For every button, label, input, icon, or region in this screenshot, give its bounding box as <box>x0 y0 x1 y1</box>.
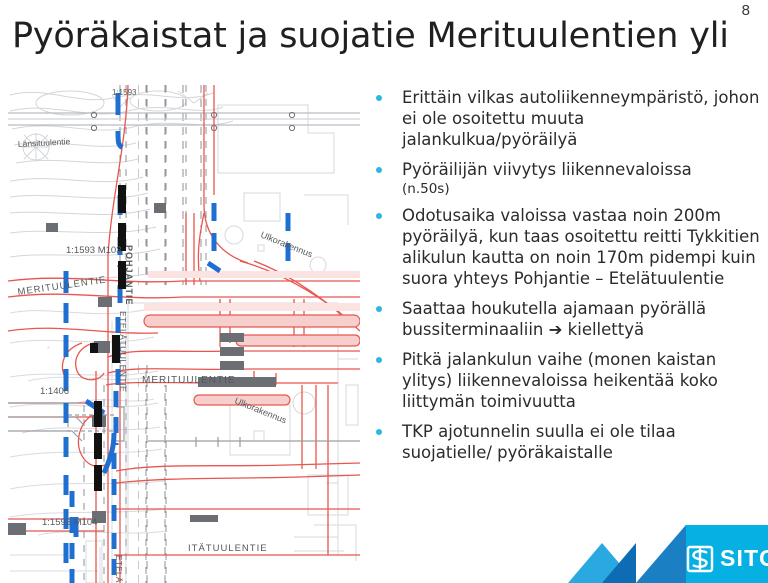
list-item: Odotusaika valoissa vastaa noin 200m pyö… <box>372 206 762 290</box>
bullet-text: Erittäin vilkas autoliikenneympäristö, j… <box>402 88 759 149</box>
list-item: Pitkä jalankulun vaihe (monen kaistan yl… <box>372 350 762 413</box>
bullet-dot-icon <box>376 357 382 363</box>
logo-wordmark: SITO <box>720 545 768 571</box>
sito-logo: SITO <box>568 503 768 583</box>
bullet-text: Pyöräilijän viivytys liikennevaloissa <box>402 160 692 179</box>
list-item: Erittäin vilkas autoliikenneympäristö, j… <box>372 88 762 151</box>
map-label-scale-1406: 1:1406 <box>40 386 69 397</box>
bullet-dot-icon <box>376 306 382 312</box>
bullet-list: Erittäin vilkas autoliikenneympäristö, j… <box>372 88 762 472</box>
map-label-itatuulentie: ITÄTUULENTIE <box>188 543 268 554</box>
bullet-dot-icon <box>376 213 382 219</box>
logo-triangle-mid-dark <box>636 525 686 583</box>
page-title: Pyöräkaistat ja suojatie Merituulentien … <box>12 16 729 56</box>
map-label-etelatuulentie: ETELÄTUULENTIE <box>118 311 128 392</box>
bullet-dot-icon <box>376 167 382 173</box>
map-label-scale-1593: 1:1593 <box>112 88 137 97</box>
map-label-scale-m103: 1:1593 M103 <box>66 245 121 256</box>
map-label-etela-bottom: ETELÄ <box>114 555 123 583</box>
bullet-text: Odotusaika valoissa vastaa noin 200m pyö… <box>402 206 760 288</box>
bullet-dot-icon <box>376 95 382 101</box>
bullet-text: Saattaa houkutella ajamaan pyörällä buss… <box>402 299 706 339</box>
bullet-dot-icon <box>376 429 382 435</box>
bullet-text: Pitkä jalankulun vaihe (monen kaistan yl… <box>402 350 718 411</box>
list-item: TKP ajotunnelin suulla ei ole tilaa suoj… <box>372 422 762 464</box>
map-label-scale-m104: 1:1593 M104 <box>42 517 97 528</box>
list-item: Saattaa houkutella ajamaan pyörällä buss… <box>372 299 762 341</box>
map-label-merituulentie-mid: MERITUULENTIE <box>142 375 236 386</box>
map-figure: Länsituulentie POHJANTIE MERITUULENTIE M… <box>8 85 360 583</box>
page-number: 8 <box>742 2 750 19</box>
map-label-pohjantie: POHJANTIE <box>124 245 134 306</box>
bullet-subtext: (n.50s) <box>402 181 762 197</box>
bullet-text: TKP ajotunnelin suulla ei ole tilaa suoj… <box>402 422 676 462</box>
list-item: Pyöräilijän viivytys liikennevaloissa (n… <box>372 160 762 197</box>
